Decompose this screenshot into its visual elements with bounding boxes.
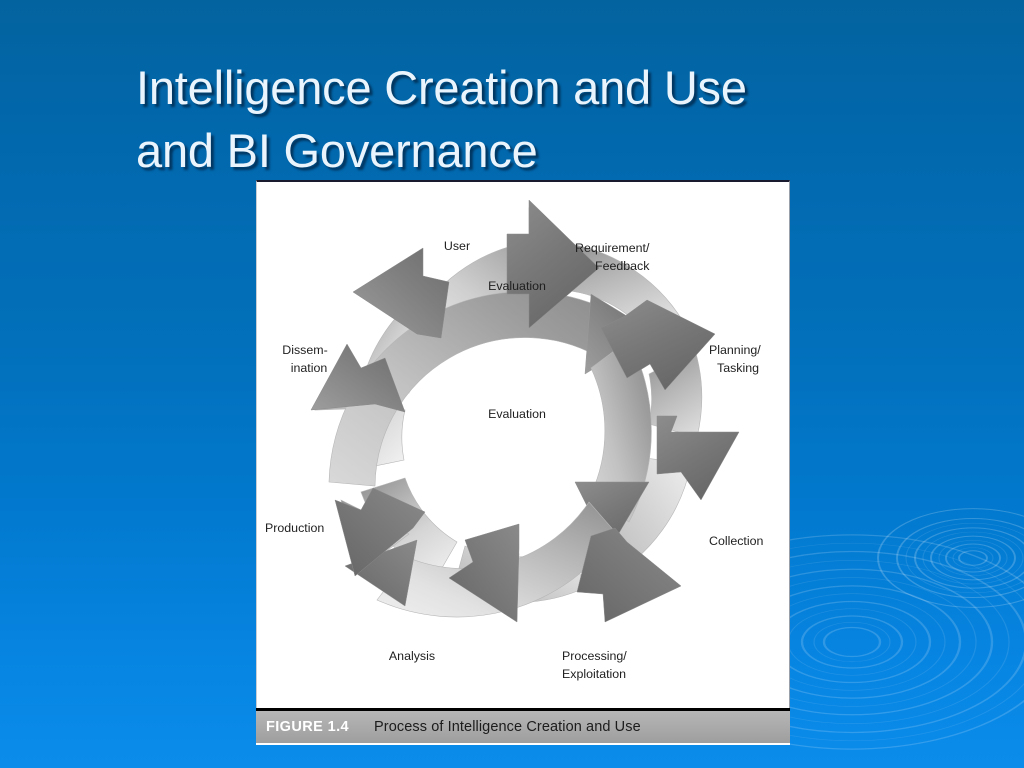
slide-canvas: Intelligence Creation and Use and BI Gov… [0,0,1024,768]
label-planning-tasking-line1: Planning/ [709,343,761,357]
figure-caption-text: Process of Intelligence Creation and Use [374,719,641,735]
label-collection: Collection [709,534,764,548]
figure-caption-bar: FIGURE 1.4 Process of Intelligence Creat… [256,711,790,743]
label-analysis: Analysis [389,649,435,663]
label-user: User [444,239,470,253]
label-requirement-feedback-line1: Requirement/ [575,241,650,255]
figure-canvas: User Requirement/ Feedback Evaluation Pl… [256,180,790,708]
label-dissemination-line2: ination [291,361,328,375]
label-processing-exploitation-line2: Exploitation [562,667,626,681]
process-cycle-diagram: User Requirement/ Feedback Evaluation Pl… [257,182,791,710]
figure-panel: User Requirement/ Feedback Evaluation Pl… [256,180,790,745]
label-dissemination-line1: Dissem- [282,343,327,357]
label-requirement-feedback-line2: Feedback [595,259,650,273]
label-evaluation-outer: Evaluation [488,279,546,293]
label-processing-exploitation-line1: Processing/ [562,649,627,663]
label-production: Production [265,521,324,535]
slide-title: Intelligence Creation and Use and BI Gov… [136,57,936,181]
label-planning-tasking-line2: Tasking [717,361,759,375]
figure-caption-number: FIGURE 1.4 [266,719,374,735]
label-evaluation-inner: Evaluation [488,407,546,421]
